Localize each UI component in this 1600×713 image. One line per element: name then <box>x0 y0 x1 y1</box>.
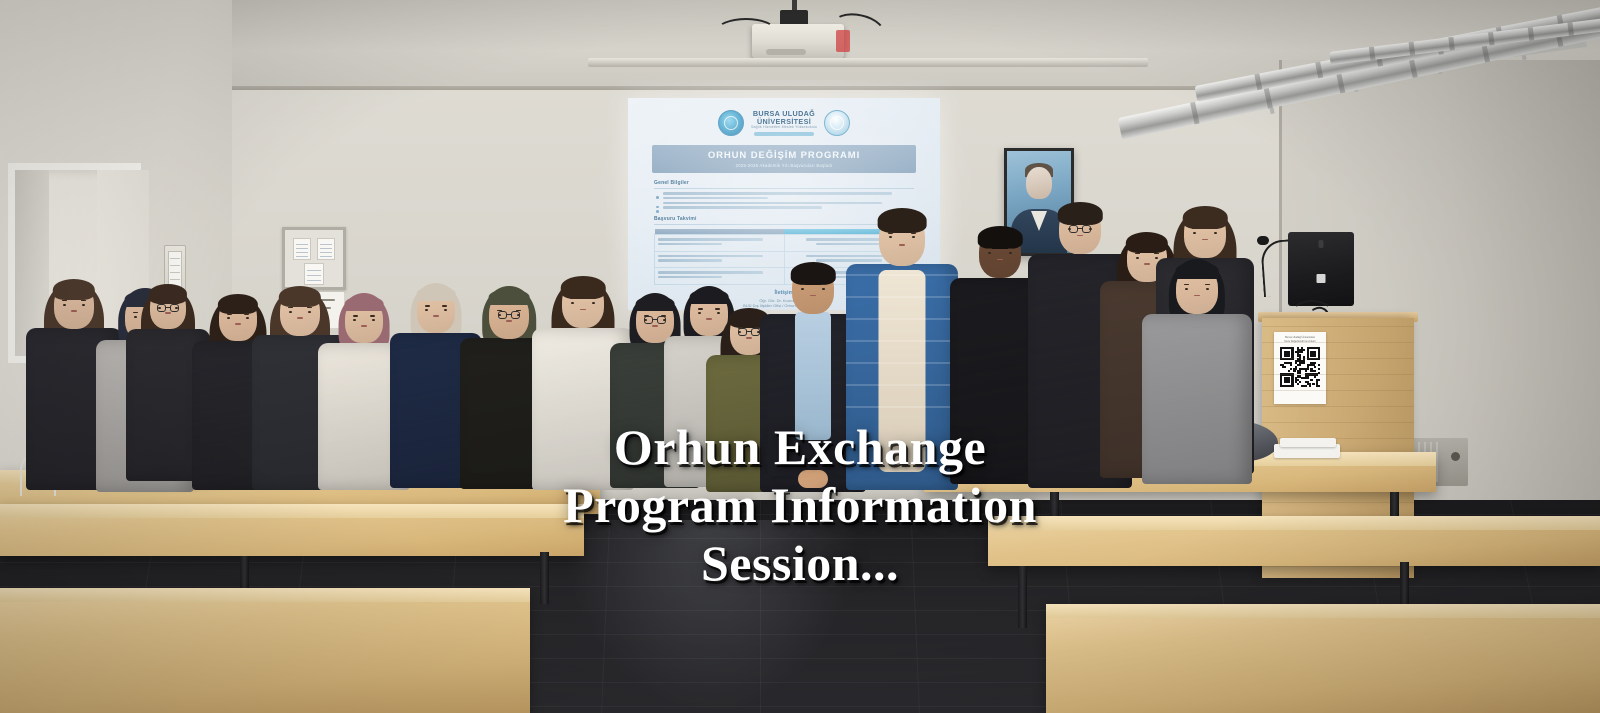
face <box>417 305 455 324</box>
notice-board <box>282 227 346 290</box>
microphone-capsule <box>1257 236 1269 245</box>
university-title: BURSA ULUDAĞ ÜNİVERSİTESİ Sağlık Hizmetl… <box>751 110 817 135</box>
hair <box>149 284 187 304</box>
board-poster-1 <box>293 238 311 260</box>
wood-grain <box>1262 422 1414 423</box>
hair <box>791 262 836 285</box>
face <box>280 307 320 327</box>
screen-mount-rail <box>588 58 1148 67</box>
clasped-hands <box>798 470 828 488</box>
wood-grain <box>1262 358 1414 359</box>
desk-surface <box>988 516 1600 530</box>
face <box>1176 284 1218 305</box>
projector-lens <box>766 49 806 55</box>
slide-section-1-heading: Genel Bilgiler <box>654 180 914 189</box>
radiator-valve[interactable] <box>1451 452 1460 461</box>
table-cell <box>655 234 785 251</box>
bench-desk <box>988 516 1600 566</box>
wood-grain <box>1262 390 1414 391</box>
face <box>879 232 925 255</box>
dress-shirt <box>795 312 831 440</box>
wood-grain <box>1262 406 1414 407</box>
coat <box>1142 314 1252 484</box>
hijab-front-edge <box>1176 262 1219 279</box>
face <box>54 300 94 320</box>
hijab-front-edge <box>690 289 729 304</box>
plaid-line <box>846 406 958 408</box>
title-underline <box>754 132 814 136</box>
monitor-camera-icon <box>1319 240 1324 248</box>
plaid-line <box>846 274 958 276</box>
slide-header: BURSA ULUDAĞ ÜNİVERSİTESİ Sağlık Hizmetl… <box>644 106 924 140</box>
person-student <box>846 204 958 490</box>
portrait-head <box>1026 167 1052 199</box>
desktop-monitor[interactable] <box>1288 232 1354 306</box>
desk-leg <box>1018 566 1027 628</box>
desk-surface <box>0 588 530 602</box>
hair <box>978 226 1023 249</box>
face <box>979 248 1021 269</box>
bench-desk <box>0 588 530 713</box>
board-poster-2 <box>317 238 335 260</box>
hair <box>279 286 321 308</box>
university-line-2: ÜNİVERSİTESİ <box>751 118 817 126</box>
slide-bullet <box>656 192 912 199</box>
face <box>792 284 834 305</box>
wood-grain <box>1262 326 1414 327</box>
desk-surface <box>1046 604 1600 618</box>
eyeglasses-icon <box>644 316 666 324</box>
slide-title-banner: ORHUN DEĞİŞİM PROGRAMI 2025-2026 Akademi… <box>652 145 916 173</box>
shirt-open-front <box>878 270 925 472</box>
plaid-line <box>846 384 958 386</box>
person-student <box>1142 258 1252 484</box>
wood-grain <box>1262 374 1414 375</box>
hijab-front-edge <box>417 286 456 301</box>
hijab-front-edge <box>489 289 530 305</box>
slide-banner-subtitle: 2025-2026 Akademik Yılı Başvuruları Başl… <box>736 163 833 168</box>
university-subtitle: Sağlık Hizmetleri Meslek Yüksekokulu <box>751 126 817 130</box>
face <box>345 315 383 334</box>
eyeglasses-icon <box>498 311 520 319</box>
bench-desk <box>1046 604 1600 713</box>
wood-grain <box>1262 342 1414 343</box>
hair <box>878 208 927 233</box>
bench-desk <box>0 504 584 556</box>
faculty-seal-icon <box>824 110 850 136</box>
plaid-line <box>846 340 958 342</box>
projector-cable <box>716 18 776 44</box>
hair <box>53 279 95 301</box>
face <box>1184 228 1226 249</box>
university-seal-icon <box>718 110 744 136</box>
desk-surface <box>0 504 584 518</box>
eyeglasses-icon <box>738 328 760 336</box>
paper-stack <box>1280 438 1336 447</box>
face <box>562 298 604 319</box>
hijab-front-edge <box>345 296 384 311</box>
wood-grain <box>1262 566 1414 567</box>
eyeglasses-icon <box>1069 225 1091 233</box>
hair <box>561 276 606 299</box>
plaid-line <box>846 362 958 364</box>
slide-banner-title: ORHUN DEĞİŞİM PROGRAMI <box>708 150 860 161</box>
floor-reflection <box>560 520 860 713</box>
plaid-line <box>846 296 958 298</box>
eyeglasses-icon <box>157 304 179 312</box>
classroom-photo: BURSA ULUDAĞ ÜNİVERSİTESİ Sağlık Hizmetl… <box>0 0 1600 713</box>
monitor-brand-logo <box>1317 274 1326 283</box>
hair <box>1183 206 1228 229</box>
hair <box>1058 202 1103 225</box>
desk-leg <box>540 552 549 604</box>
qr-code-icon <box>1280 347 1320 387</box>
plaid-line <box>846 318 958 320</box>
